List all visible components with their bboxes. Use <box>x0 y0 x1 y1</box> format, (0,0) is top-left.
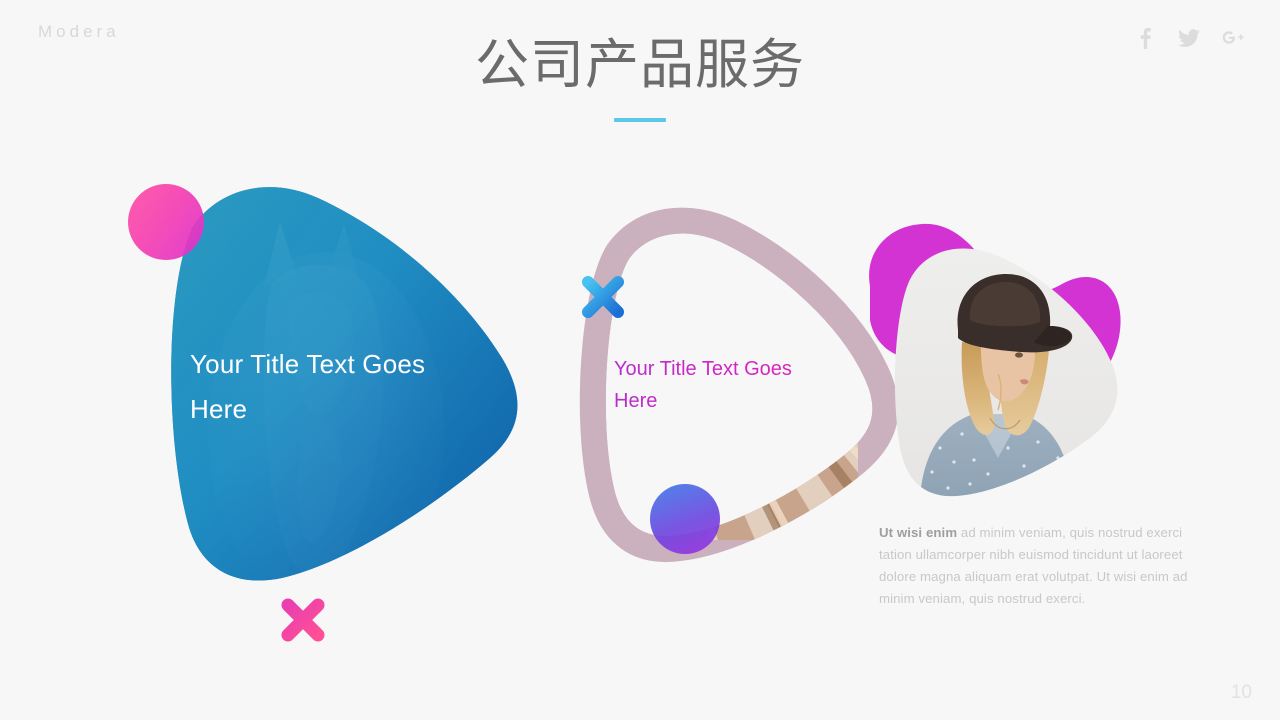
body-lead-in: Ut wisi enim <box>879 525 957 540</box>
card-outline-mauve[interactable]: Your Title Text Goes Here <box>558 212 888 557</box>
page-title: 公司产品服务 <box>0 34 1280 96</box>
card-photo-woman[interactable] <box>862 222 1124 497</box>
blue-x-icon <box>578 272 628 322</box>
title-underline <box>614 118 666 122</box>
hand-photo-fragment <box>593 221 886 549</box>
slide-canvas: Modera 公司产品服务 <box>0 0 1280 720</box>
mauve-ring <box>593 221 886 549</box>
pink-circle-decoration <box>128 184 204 260</box>
outline-card-photo <box>593 221 886 549</box>
page-number: 10 <box>1231 682 1252 704</box>
title-block: 公司产品服务 <box>0 34 1280 122</box>
gradient-circle-decoration <box>650 484 720 554</box>
body-paragraph: Ut wisi enim ad minim veniam, quis nostr… <box>879 522 1211 610</box>
pink-x-icon <box>277 594 329 646</box>
